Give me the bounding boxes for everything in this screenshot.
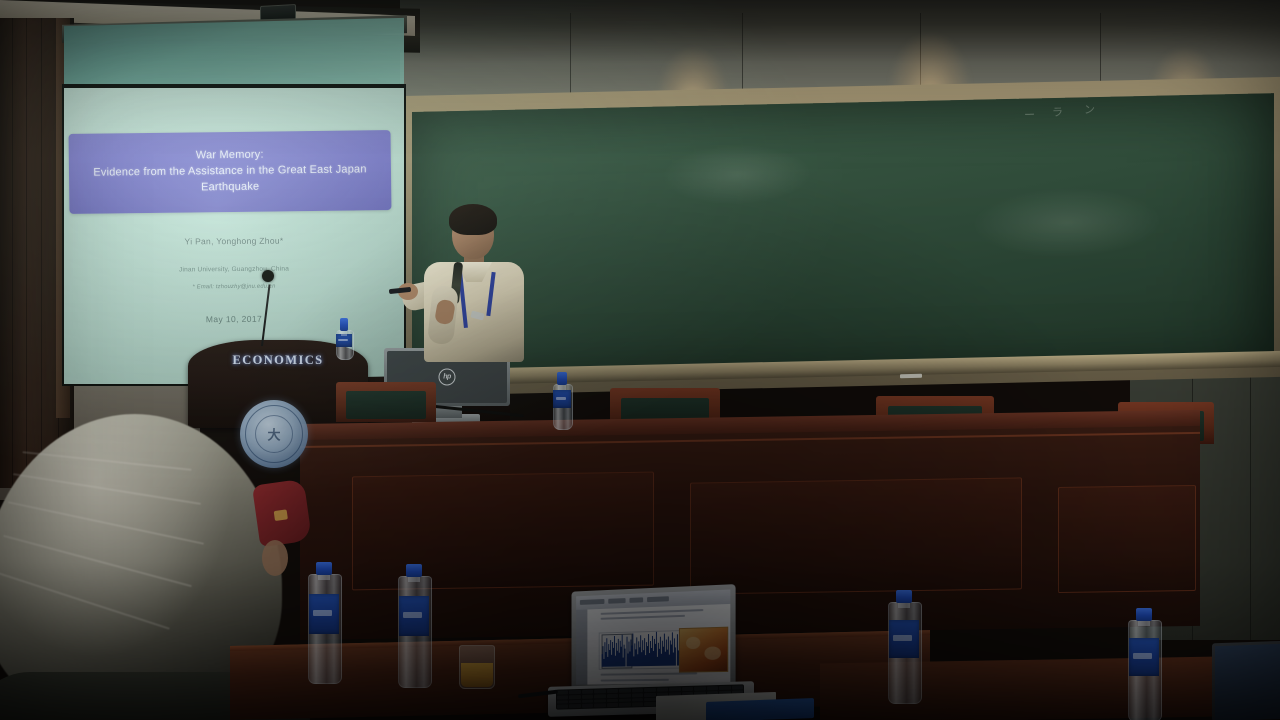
document-sidebar[interactable] xyxy=(576,609,587,684)
audience-ear xyxy=(262,540,288,576)
document-photo xyxy=(679,627,728,673)
water-bottle xyxy=(398,564,430,686)
slide-authors: Yi Pan, Yonghong Zhou* xyxy=(64,235,404,248)
tea-glass xyxy=(459,645,495,689)
chalkboard: ー ラ ン xyxy=(412,93,1274,384)
document-page xyxy=(587,604,730,685)
water-bottle xyxy=(1128,608,1160,720)
water-bottle xyxy=(888,590,920,702)
projector-spill-area xyxy=(64,18,404,92)
chalk-mark-3: ン xyxy=(1084,101,1095,117)
laptop-screen xyxy=(576,589,730,684)
slide-date: May 10, 2017 xyxy=(64,313,404,326)
water-bottle xyxy=(308,562,340,682)
desk-panel xyxy=(690,477,1022,594)
second-laptop xyxy=(1212,641,1280,720)
slide-title-line-3: Earthquake xyxy=(93,178,367,197)
seal-glyph: 大 xyxy=(267,425,280,444)
university-seal: 大 xyxy=(240,400,308,468)
slide-title-line-2: Evidence from the Assistance in the Grea… xyxy=(93,162,367,181)
water-bottle xyxy=(553,372,571,428)
slide-title: War Memory: Evidence from the Assistance… xyxy=(87,146,373,197)
laptop-lid xyxy=(571,584,735,692)
slide-affiliation: Jinan University, Guangzhou, China xyxy=(64,265,404,275)
blue-folder xyxy=(706,698,814,720)
hp-logo-icon: hp xyxy=(439,369,456,386)
water-bottle xyxy=(336,318,352,358)
audience-red-accessory xyxy=(252,479,312,548)
slide-title-bar: War Memory: Evidence from the Assistance… xyxy=(69,130,392,214)
chalk-piece xyxy=(900,374,922,378)
presenter-hair xyxy=(449,204,497,235)
slide-email-note: * Email: tzhouzhy@jnu.edu.cn xyxy=(64,283,404,292)
chalk-mark-2: ラ xyxy=(1052,104,1063,120)
desk-panel xyxy=(1058,485,1196,593)
chalk-mark-1: ー xyxy=(1024,106,1035,122)
second-laptop-screen xyxy=(1215,644,1280,720)
gooseneck-microphone-icon xyxy=(262,270,274,282)
lecture-hall-photo: ー ラ ン War Memory: Evidence from the Assi… xyxy=(0,0,1280,720)
chair xyxy=(336,382,436,422)
